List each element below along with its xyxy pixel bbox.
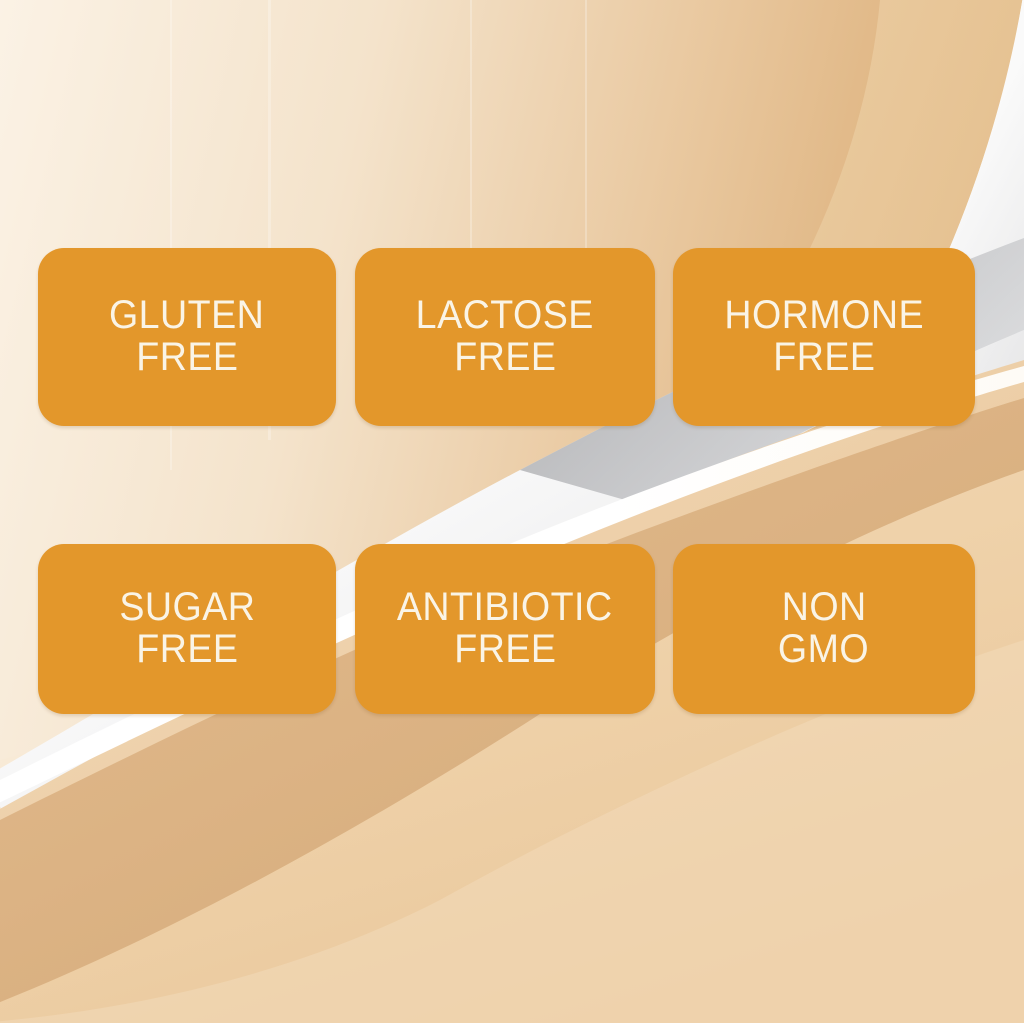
claim-badge-grid: GLUTEN FREE LACTOSE FREE HORMONE FREE SU…	[0, 0, 1024, 1023]
badge-sugar-free-line-2: FREE	[136, 629, 238, 671]
badge-gluten-free[interactable]: GLUTEN FREE	[38, 248, 336, 426]
badge-non-gmo-line-2: GMO	[778, 629, 869, 671]
badge-hormone-free[interactable]: HORMONE FREE	[673, 248, 975, 426]
badge-non-gmo[interactable]: NON GMO	[673, 544, 975, 714]
badge-sugar-free-line-1: SUGAR	[119, 587, 255, 629]
badge-antibiotic-free-line-2: FREE	[454, 629, 556, 671]
badge-hormone-free-line-1: HORMONE	[724, 295, 924, 337]
badge-gluten-free-line-1: GLUTEN	[109, 295, 264, 337]
badge-lactose-free-line-2: FREE	[454, 337, 556, 379]
badge-antibiotic-free-line-1: ANTIBIOTIC	[397, 587, 613, 629]
badge-lactose-free-line-1: LACTOSE	[416, 295, 594, 337]
badge-sugar-free[interactable]: SUGAR FREE	[38, 544, 336, 714]
badge-antibiotic-free[interactable]: ANTIBIOTIC FREE	[355, 544, 655, 714]
badge-gluten-free-line-2: FREE	[136, 337, 238, 379]
badge-non-gmo-line-1: NON	[782, 587, 867, 629]
badge-hormone-free-line-2: FREE	[773, 337, 875, 379]
product-claims-poster: GLUTEN FREE LACTOSE FREE HORMONE FREE SU…	[0, 0, 1024, 1023]
badge-lactose-free[interactable]: LACTOSE FREE	[355, 248, 655, 426]
